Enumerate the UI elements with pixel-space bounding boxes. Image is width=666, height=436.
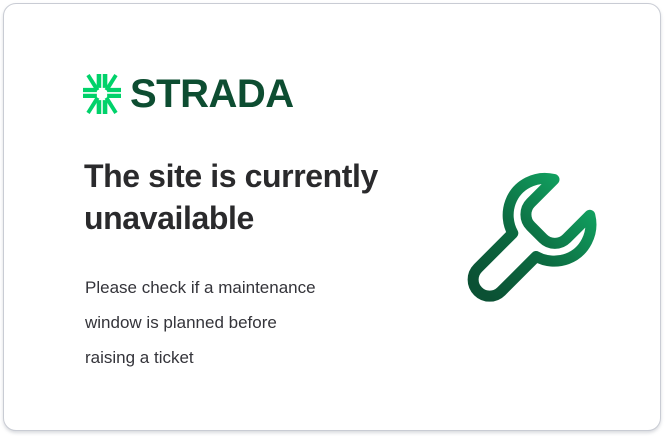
status-card: STRADA The site is currently unavailable… (3, 3, 661, 431)
status-description-line: window is planned before (85, 306, 415, 341)
brand-lockup: STRADA (83, 74, 294, 114)
strada-asterisk-icon (83, 74, 121, 114)
status-description-line: raising a ticket (85, 341, 415, 376)
page-title: The site is currently unavailable (84, 156, 424, 239)
wrench-icon (456, 156, 621, 321)
status-description-line: Please check if a maintenance (85, 271, 415, 306)
status-description: Please check if a maintenance window is … (85, 271, 415, 376)
brand-wordmark: STRADA (130, 74, 294, 114)
